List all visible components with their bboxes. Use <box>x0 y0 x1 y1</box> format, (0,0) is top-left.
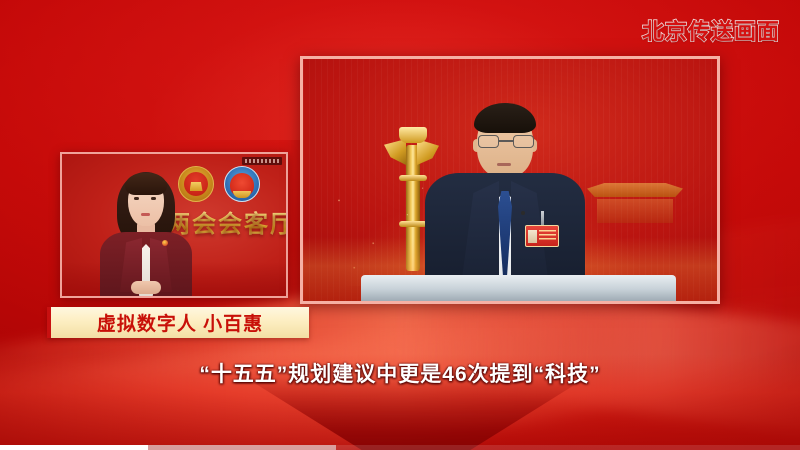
subtitle-caption: “十五五”规划建议中更是46次提到“科技” <box>0 358 800 388</box>
cppcc-emblem-icon <box>224 166 260 202</box>
anchor-eye-left <box>134 197 139 200</box>
virtual-anchor-figure <box>98 164 194 296</box>
anchor-lips <box>141 213 150 216</box>
anchor-hair-fringe <box>125 173 167 195</box>
guest-delegate-badge <box>525 225 559 247</box>
guest-glasses-icon <box>477 135 535 149</box>
tiananmen-gate-icon <box>587 183 683 229</box>
guest-video-panel[interactable] <box>300 56 720 304</box>
guest-hair <box>474 103 536 133</box>
broadcast-screen: 北京传送画面 两会会客厅 <box>0 0 800 450</box>
huabiao-cap <box>399 127 427 143</box>
channel-tag: 北京传送画面 <box>642 14 780 46</box>
glasses-lens-right <box>513 135 534 148</box>
guest-desk <box>361 275 676 301</box>
anchor-eye-right <box>151 197 156 200</box>
lower-third-name-banner: 虚拟数字人 小百惠 <box>47 307 309 338</box>
virtual-anchor-panel[interactable]: 两会会客厅 <box>60 152 288 298</box>
gate-roof <box>587 183 683 197</box>
guest-mouth <box>497 163 511 166</box>
anchor-hands <box>131 281 161 294</box>
channel-watermark-icon <box>242 157 282 165</box>
guest-figure <box>425 83 585 301</box>
guest-lapel-mic-icon <box>521 211 525 215</box>
player-progress-bar[interactable] <box>0 445 800 450</box>
player-progress-played <box>0 445 148 450</box>
anchor-lapel-pin-icon <box>162 240 168 246</box>
lower-third-name-label: 虚拟数字人 小百惠 <box>97 309 263 336</box>
gate-body <box>597 199 673 223</box>
glasses-lens-left <box>478 135 499 148</box>
glasses-bridge <box>499 140 513 142</box>
